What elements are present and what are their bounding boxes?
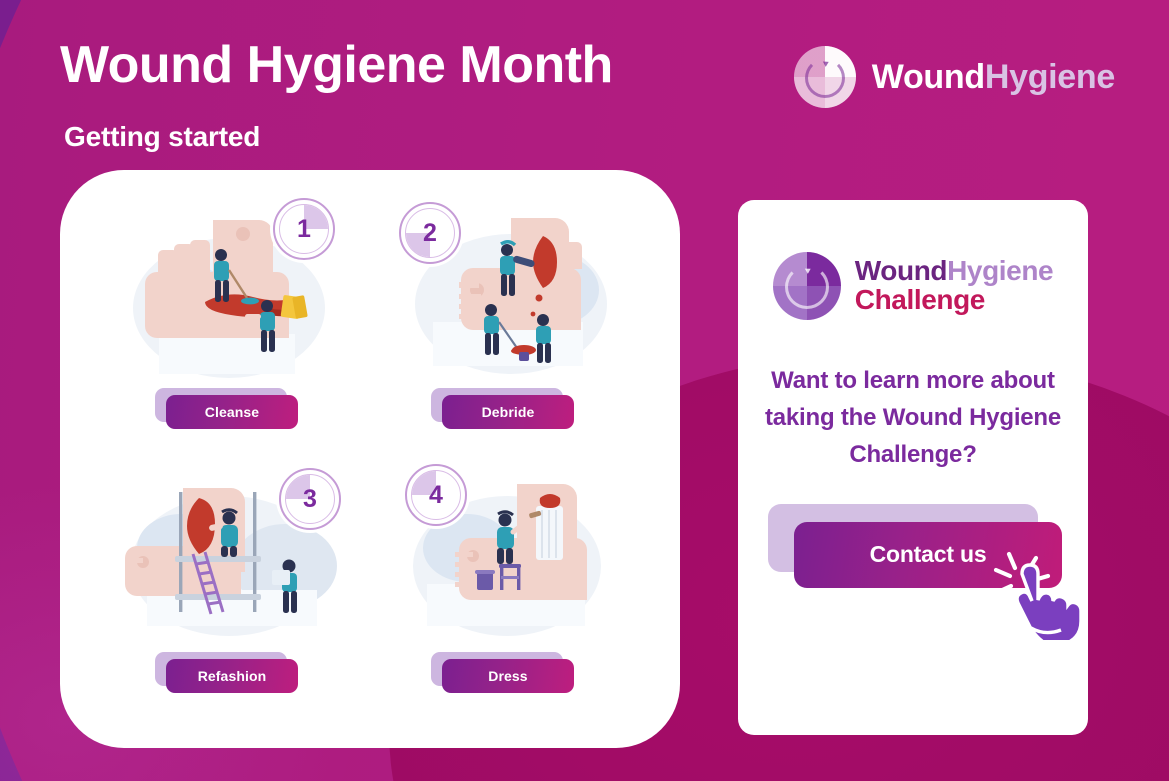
step-card-cleanse[interactable]: 1 Cleanse	[94, 198, 370, 462]
challenge-word-challenge: Challenge	[855, 286, 1053, 315]
step-1-illustration: 1	[117, 198, 347, 383]
challenge-word-wound: Wound	[855, 255, 947, 286]
challenge-word-hygiene: Hygiene	[947, 255, 1053, 286]
cta-button-group: Contact us	[774, 516, 1052, 588]
step-3-label-button[interactable]: Refashion	[166, 659, 298, 693]
step-4-label: Dress	[488, 668, 527, 684]
step-card-refashion[interactable]: 3 Refashion	[94, 462, 370, 726]
step-card-dress[interactable]: 4 Dress	[370, 462, 646, 726]
steps-panel: 1 Cleanse	[60, 170, 680, 748]
poster-canvas: Wound Hygiene Month Getting started Woun…	[0, 0, 1169, 781]
step-2-label-button[interactable]: Debride	[442, 395, 574, 429]
step-3-number-badge: 3	[279, 468, 341, 530]
page-subtitle: Getting started	[64, 121, 613, 153]
step-4-illustration: 4	[393, 462, 623, 647]
steps-grid: 1 Cleanse	[60, 170, 680, 748]
page-header: Wound Hygiene Month Getting started	[60, 38, 613, 153]
page-title: Wound Hygiene Month	[60, 38, 613, 93]
step-1-label-button[interactable]: Cleanse	[166, 395, 298, 429]
wound-hygiene-challenge-circle-logo-icon	[773, 252, 841, 320]
contact-us-button[interactable]: Contact us	[794, 522, 1062, 588]
brand-lockup: WoundHygiene	[794, 46, 1115, 108]
step-1-label: Cleanse	[205, 404, 259, 420]
wound-hygiene-circle-logo-icon	[794, 46, 856, 108]
step-4-number-badge: 4	[405, 464, 467, 526]
brand-wordmark: WoundHygiene	[872, 58, 1115, 97]
brand-word-hygiene: Hygiene	[985, 58, 1115, 96]
step-1-number-badge: 1	[273, 198, 335, 260]
challenge-logo: WoundHygiene Challenge	[773, 252, 1053, 320]
step-2-illustration: 2	[393, 198, 623, 383]
challenge-wordmark: WoundHygiene Challenge	[855, 257, 1053, 314]
step-2-number-badge: 2	[399, 202, 461, 264]
step-4-label-button[interactable]: Dress	[442, 659, 574, 693]
step-card-debride[interactable]: 2 Debride	[370, 198, 646, 462]
challenge-cta-card: WoundHygiene Challenge Want to learn mor…	[738, 200, 1088, 735]
step-3-illustration: 3	[117, 462, 347, 647]
step-3-label: Refashion	[198, 668, 267, 684]
step-2-label: Debride	[482, 404, 535, 420]
brand-word-wound: Wound	[872, 58, 985, 96]
cta-heading: Want to learn more about taking the Woun…	[764, 362, 1062, 474]
